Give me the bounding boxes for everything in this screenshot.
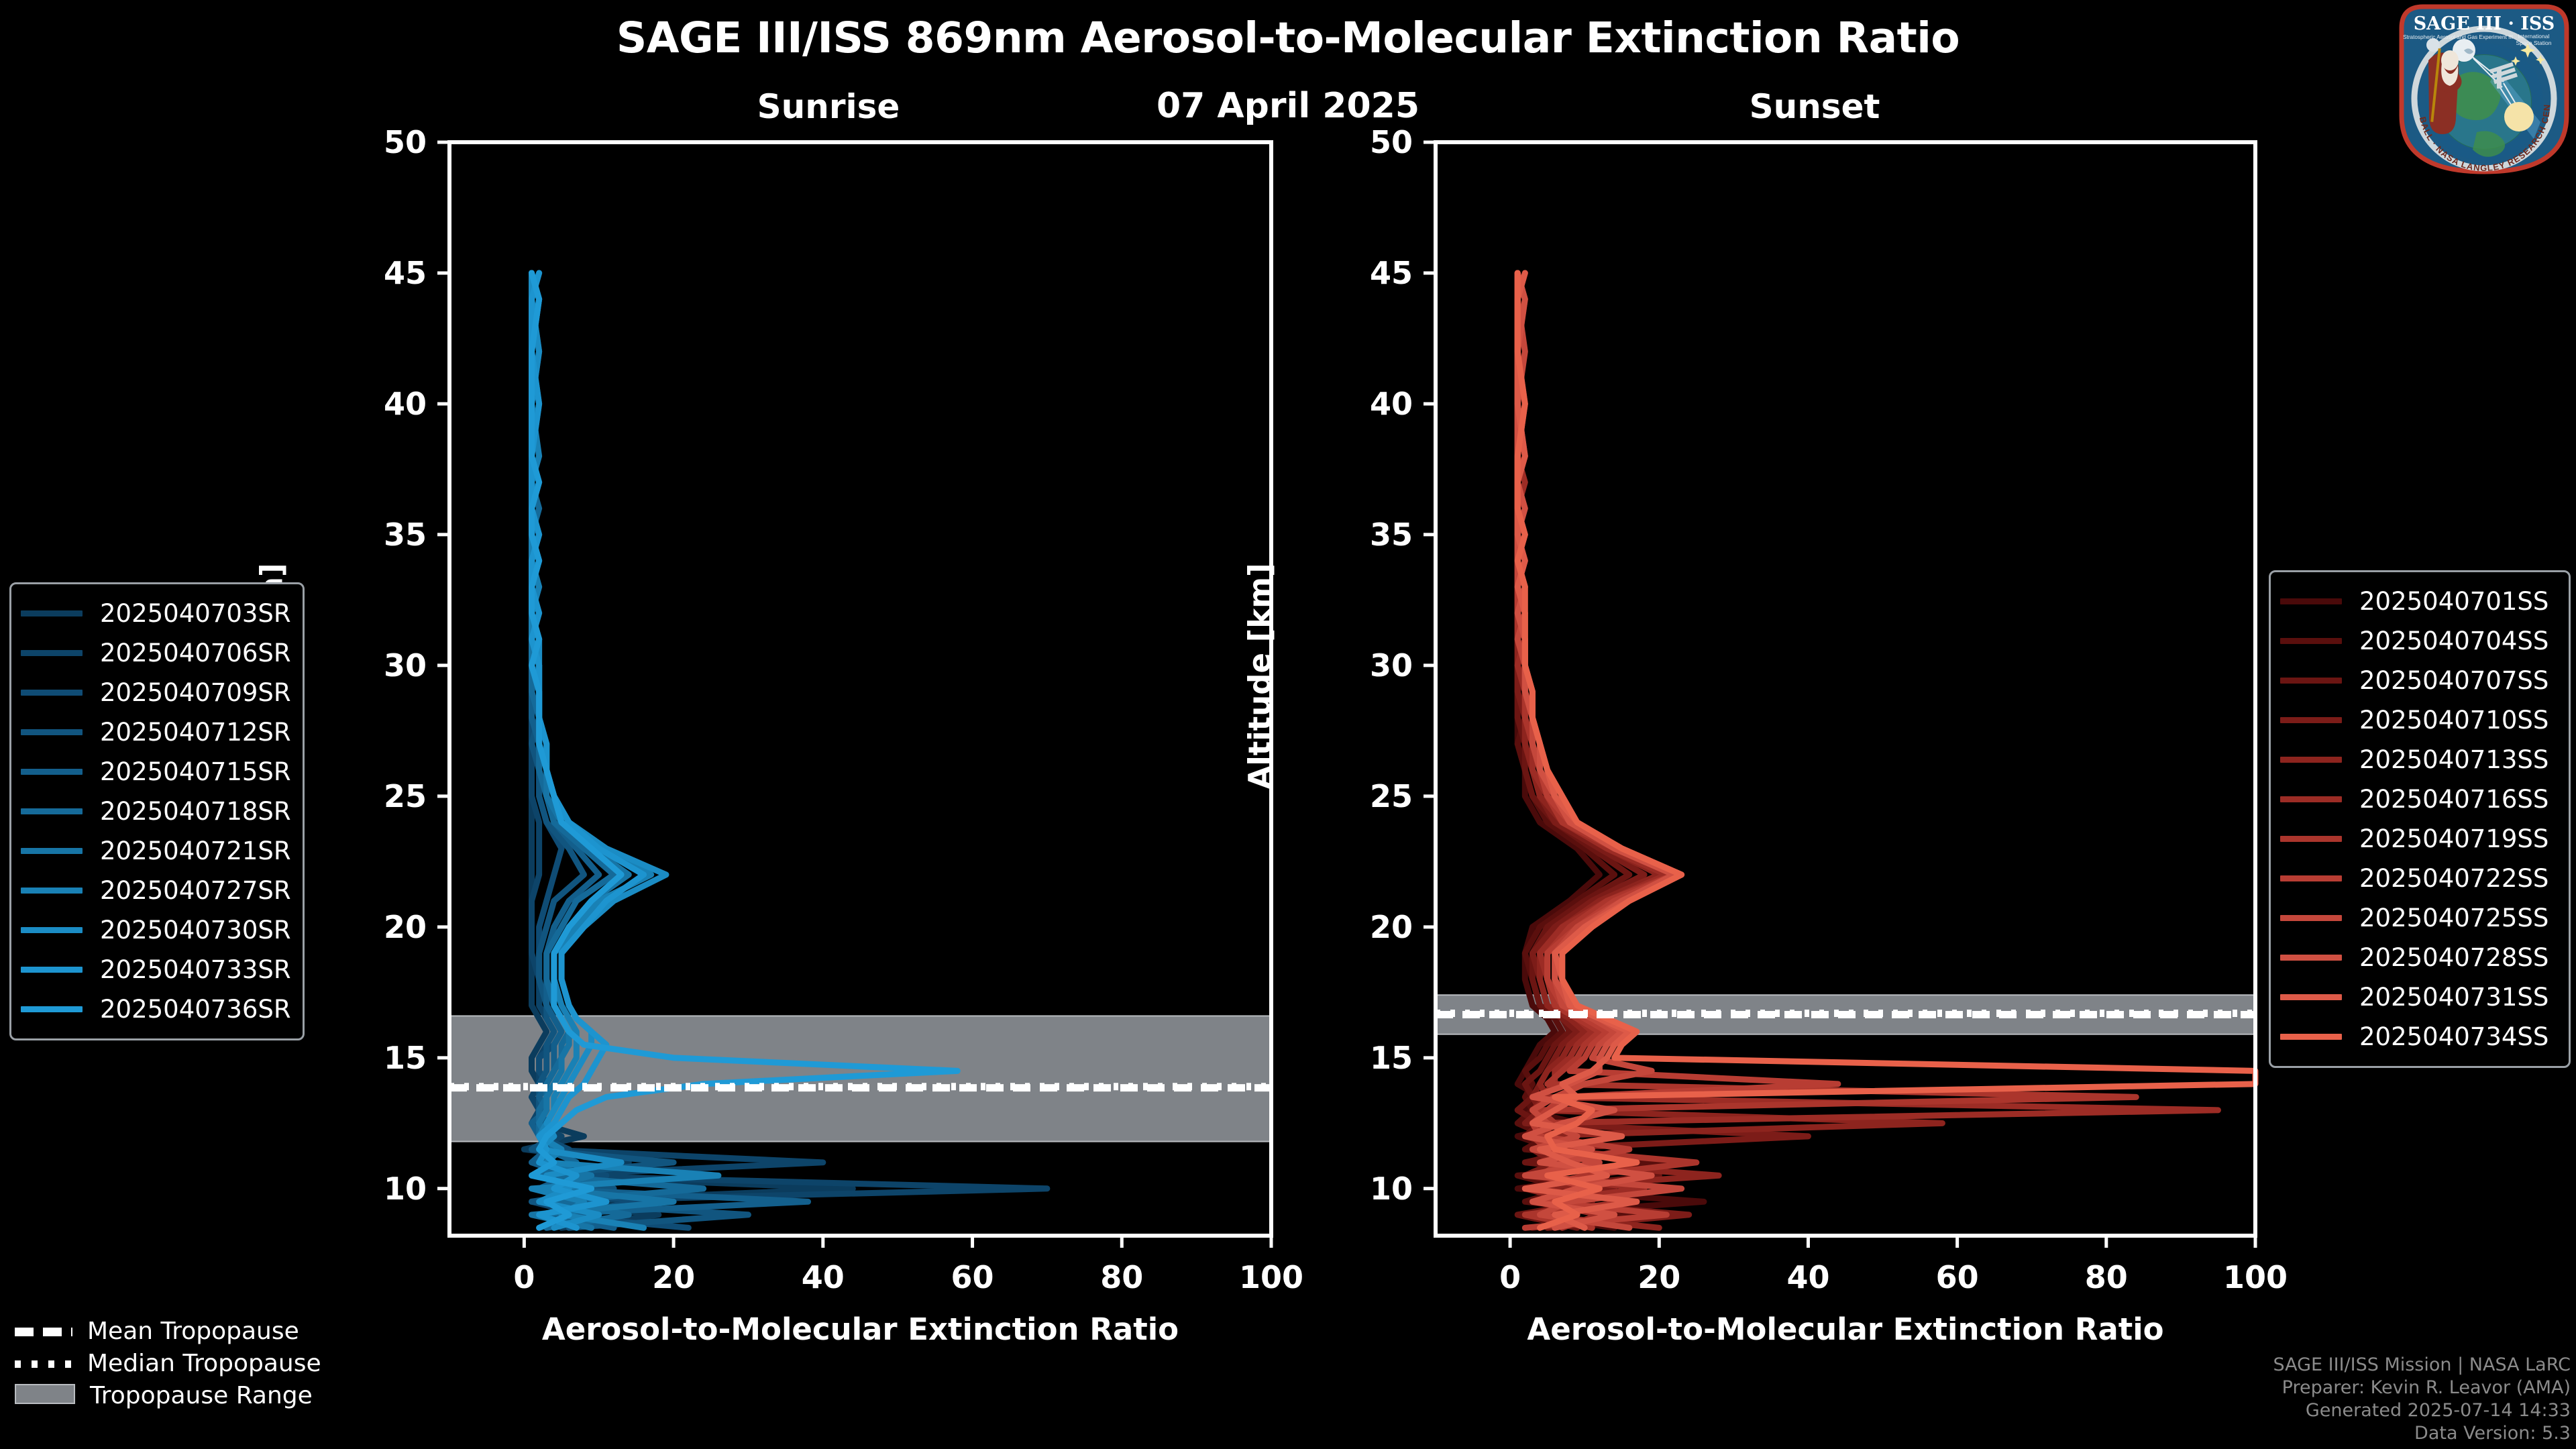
sunrise-x-axis-label: Aerosol-to-Molecular Extinction Ratio (449, 1311, 1271, 1347)
legend-label: 2025040725SS (2359, 904, 2548, 932)
y-tick-label: 10 (1370, 1171, 1413, 1207)
sunset-x-axis-label: Aerosol-to-Molecular Extinction Ratio (1436, 1311, 2255, 1347)
legend-label: 2025040701SS (2359, 587, 2548, 616)
legend-color-swatch (2280, 994, 2342, 1000)
y-tick-label: 10 (384, 1171, 427, 1207)
legend-item-2025040733sr[interactable]: 2025040733SR (21, 950, 290, 989)
sunset-y-axis-label: Altitude [km] (1242, 588, 1278, 790)
legend-color-swatch (2280, 598, 2342, 604)
x-tick-label: 20 (1638, 1259, 1680, 1295)
tropopause-legend: Mean Tropopause Median Tropopause Tropop… (15, 1315, 364, 1411)
legend-item-2025040707ss[interactable]: 2025040707SS (2280, 661, 2557, 700)
filled-band-icon (15, 1384, 75, 1404)
legend-color-swatch (21, 1006, 83, 1012)
legend-item-2025040734ss[interactable]: 2025040734SS (2280, 1017, 2557, 1057)
legend-label: 2025040709SR (100, 678, 291, 707)
y-tick-label: 15 (1370, 1040, 1413, 1076)
legend-item-2025040715sr[interactable]: 2025040715SR (21, 752, 290, 792)
y-tick-label: 40 (1370, 386, 1413, 422)
legend-label: 2025040710SS (2359, 706, 2548, 735)
legend-item-2025040731ss[interactable]: 2025040731SS (2280, 977, 2557, 1017)
legend-item-2025040704ss[interactable]: 2025040704SS (2280, 621, 2557, 661)
legend-label: 2025040703SR (100, 599, 291, 628)
legend-color-swatch (21, 927, 83, 933)
sunset-plot: 020406080100101520253035404550 (1436, 142, 2255, 1236)
sunset-panel-title: Sunset (1697, 87, 1932, 126)
x-tick-label: 0 (513, 1259, 535, 1295)
y-tick-label: 45 (384, 255, 427, 291)
legend-color-swatch (21, 848, 83, 854)
legend-color-swatch (2280, 717, 2342, 723)
credits-line-data-version: Data Version: 5.3 (2273, 1422, 2571, 1445)
legend-label: 2025040715SR (100, 757, 291, 786)
y-tick-label: 20 (1370, 909, 1413, 945)
legend-item-2025040736sr[interactable]: 2025040736SR (21, 989, 290, 1029)
legend-color-swatch (21, 729, 83, 735)
credits-block: SAGE III/ISS Mission | NASA LaRC Prepare… (2273, 1354, 2571, 1445)
legend-item-2025040728ss[interactable]: 2025040728SS (2280, 938, 2557, 977)
sage-iii-iss-logo-icon: SAGE III · ISS Stratospheric Aerosol and… (2396, 1, 2572, 177)
legend-label: 2025040731SS (2359, 983, 2548, 1012)
sunrise-panel-title: Sunrise (711, 87, 946, 126)
legend-color-swatch (2280, 638, 2342, 644)
legend-item-2025040721sr[interactable]: 2025040721SR (21, 831, 290, 871)
y-tick-label: 35 (1370, 517, 1413, 553)
x-tick-label: 40 (1786, 1259, 1829, 1295)
legend-label: 2025040706SR (100, 639, 291, 667)
legend-color-swatch (21, 650, 83, 656)
legend-item-2025040701ss[interactable]: 2025040701SS (2280, 582, 2557, 621)
legend-label: 2025040719SS (2359, 824, 2548, 853)
x-tick-label: 40 (802, 1259, 845, 1295)
y-tick-label: 25 (384, 778, 427, 814)
legend-item-2025040730sr[interactable]: 2025040730SR (21, 910, 290, 950)
legend-color-swatch (21, 610, 83, 616)
y-tick-label: 20 (384, 909, 427, 945)
legend-color-swatch (2280, 1034, 2342, 1040)
legend-item-2025040713ss[interactable]: 2025040713SS (2280, 740, 2557, 780)
x-tick-label: 100 (1239, 1259, 1303, 1295)
y-tick-label: 15 (384, 1040, 427, 1076)
legend-label: 2025040734SS (2359, 1022, 2548, 1051)
credits-line-generated: Generated 2025-07-14 14:33 (2273, 1399, 2571, 1422)
legend-item-2025040710ss[interactable]: 2025040710SS (2280, 700, 2557, 740)
legend-label: 2025040712SR (100, 718, 291, 747)
dotted-line-icon (15, 1360, 72, 1368)
logo-title-text: SAGE III · ISS (2414, 13, 2555, 34)
legend-item-median-tropopause: Median Tropopause (15, 1347, 364, 1379)
legend-label: 2025040718SR (100, 797, 291, 826)
legend-label: 2025040716SS (2359, 785, 2548, 814)
y-tick-label: 45 (1370, 255, 1413, 291)
y-tick-label: 40 (384, 386, 427, 422)
legend-color-swatch (21, 967, 83, 973)
legend-color-swatch (2280, 875, 2342, 881)
legend-item-2025040725ss[interactable]: 2025040725SS (2280, 898, 2557, 938)
legend-item-2025040718sr[interactable]: 2025040718SR (21, 792, 290, 831)
y-tick-label: 50 (384, 124, 427, 160)
legend-color-swatch (2280, 796, 2342, 802)
logo-subtitle-text: Stratospheric Aerosol and Gas Experiment… (2403, 34, 2513, 40)
y-tick-label: 30 (384, 647, 427, 684)
legend-item-2025040722ss[interactable]: 2025040722SS (2280, 859, 2557, 898)
legend-label: 2025040736SR (100, 995, 291, 1024)
legend-color-swatch (21, 769, 83, 775)
legend-color-swatch (2280, 915, 2342, 921)
page-title: SAGE III/ISS 869nm Aerosol-to-Molecular … (0, 13, 2576, 62)
legend-label: 2025040730SR (100, 916, 291, 945)
legend-color-swatch (21, 690, 83, 696)
x-tick-label: 80 (2085, 1259, 2128, 1295)
legend-item-mean-tropopause: Mean Tropopause (15, 1315, 364, 1347)
date-subtitle: 07 April 2025 (0, 86, 2576, 126)
y-tick-label: 25 (1370, 778, 1413, 814)
sunset-series-legend[interactable]: 2025040701SS2025040704SS2025040707SS2025… (2269, 570, 2571, 1068)
legend-color-swatch (2280, 836, 2342, 842)
svg-text:Space Station: Space Station (2516, 40, 2552, 46)
legend-color-swatch (21, 808, 83, 814)
legend-label: 2025040728SS (2359, 943, 2548, 972)
sunrise-plot: 020406080100101520253035404550 (449, 142, 1271, 1236)
legend-label: 2025040733SR (100, 955, 291, 984)
legend-item-2025040703sr[interactable]: 2025040703SR (21, 594, 290, 633)
x-tick-label: 0 (1499, 1259, 1521, 1295)
sunrise-series-legend[interactable]: 2025040703SR2025040706SR2025040709SR2025… (9, 582, 305, 1040)
legend-item-2025040719ss[interactable]: 2025040719SS (2280, 819, 2557, 859)
x-tick-label: 100 (2223, 1259, 2288, 1295)
legend-label-median-tropopause: Median Tropopause (87, 1350, 321, 1377)
legend-color-swatch (2280, 757, 2342, 763)
legend-label-tropopause-range: Tropopause Range (90, 1382, 313, 1409)
legend-color-swatch (2280, 955, 2342, 961)
x-tick-label: 20 (652, 1259, 695, 1295)
y-tick-label: 50 (1370, 124, 1413, 160)
legend-item-tropopause-range: Tropopause Range (15, 1379, 364, 1411)
legend-label: 2025040721SR (100, 837, 291, 865)
y-tick-label: 35 (384, 517, 427, 553)
credits-line-mission: SAGE III/ISS Mission | NASA LaRC (2273, 1354, 2571, 1377)
legend-label: 2025040704SS (2359, 627, 2548, 655)
svg-text:International: International (2518, 33, 2550, 40)
legend-label: 2025040722SS (2359, 864, 2548, 893)
legend-color-swatch (21, 888, 83, 894)
legend-item-2025040716ss[interactable]: 2025040716SS (2280, 780, 2557, 819)
credits-line-preparer: Preparer: Kevin R. Leavor (AMA) (2273, 1377, 2571, 1399)
dashed-line-icon (15, 1328, 72, 1336)
legend-label: 2025040707SS (2359, 666, 2548, 695)
legend-label: 2025040713SS (2359, 745, 2548, 774)
legend-label: 2025040727SR (100, 876, 291, 905)
x-tick-label: 60 (951, 1259, 994, 1295)
legend-item-2025040706sr[interactable]: 2025040706SR (21, 633, 290, 673)
legend-label-mean-tropopause: Mean Tropopause (87, 1318, 299, 1345)
legend-item-2025040727sr[interactable]: 2025040727SR (21, 871, 290, 910)
legend-color-swatch (2280, 678, 2342, 684)
legend-item-2025040709sr[interactable]: 2025040709SR (21, 673, 290, 712)
x-tick-label: 60 (1936, 1259, 1979, 1295)
y-tick-label: 30 (1370, 647, 1413, 684)
x-tick-label: 80 (1100, 1259, 1143, 1295)
legend-item-2025040712sr[interactable]: 2025040712SR (21, 712, 290, 752)
